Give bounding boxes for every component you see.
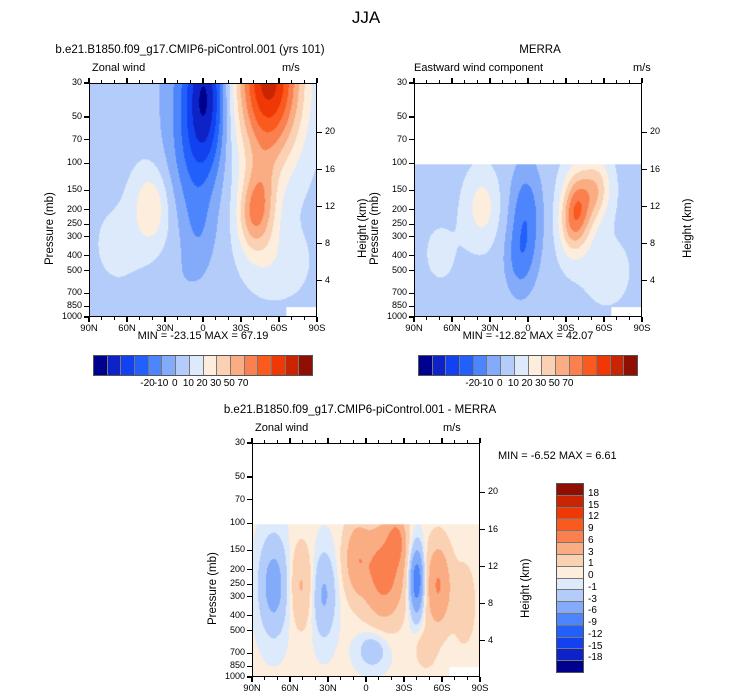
model-lat-tick	[253, 317, 254, 320]
diff-contour-field	[253, 444, 479, 676]
obs-lat-tick	[451, 317, 452, 322]
diff-lat-tick	[251, 677, 252, 682]
diff-lat-tick-top	[340, 440, 341, 443]
colorbar-tick-label: -9	[588, 618, 618, 628]
model-lat-tick	[202, 317, 203, 322]
model-pressure-tick	[84, 255, 89, 256]
colorbar-swatch	[557, 484, 583, 496]
colorbar-swatch	[611, 356, 625, 375]
model-lat-tick	[126, 317, 127, 322]
obs-height-tick-label: 8	[650, 239, 674, 248]
colorbar-swatch	[557, 602, 583, 614]
model-plot-area[interactable]	[89, 83, 317, 317]
colorbar-swatch	[272, 356, 286, 375]
diff-lat-tick-label: 90S	[460, 684, 500, 694]
colorbar-swatch	[245, 356, 259, 375]
obs-lat-tick-top	[591, 80, 592, 83]
model-lat-tick	[88, 317, 89, 322]
model-pressure-tick	[84, 293, 89, 294]
diff-lat-tick-top	[454, 440, 455, 443]
obs-height-tick	[642, 243, 647, 244]
obs-pressure-tick-label: 850	[376, 301, 407, 310]
obs-pressure-tick-label: 1000	[376, 312, 407, 321]
obs-lat-tick-top	[629, 80, 630, 83]
obs-pressure-tick	[409, 209, 414, 210]
model-pressure-tick-label: 850	[51, 301, 82, 310]
model-pressure-tick-label: 50	[51, 112, 82, 121]
diff-height-tick	[480, 566, 485, 567]
diff-pressure-tick	[247, 523, 252, 524]
colorbar-swatch	[190, 356, 204, 375]
model-lat-tick-top	[240, 78, 241, 83]
model-lat-tick-label: 30N	[145, 324, 185, 334]
obs-lat-tick-top	[578, 80, 579, 83]
colorbar-tick-label: -18	[588, 653, 618, 663]
colorbar-swatch	[258, 356, 272, 375]
diff-height-tick	[480, 640, 485, 641]
diff-pressure-tick	[247, 569, 252, 570]
obs-lat-tick-top	[616, 80, 617, 83]
colorbar-tick-label: -1	[588, 583, 618, 593]
model-lat-tick-top	[101, 80, 102, 83]
model-pressure-tick-label: 1000	[51, 312, 82, 321]
diff-height-tick	[480, 492, 485, 493]
obs-pressure-tick	[409, 163, 414, 164]
obs-height-tick-label: 16	[650, 165, 674, 174]
colorbar-swatch	[557, 555, 583, 567]
colorbar-swatch	[286, 356, 300, 375]
colorbar-swatch	[557, 590, 583, 602]
colorbar-swatch	[176, 356, 190, 375]
model-pressure-tick-label: 300	[51, 232, 82, 241]
colorbar-swatch	[108, 356, 122, 375]
model-height-tick-label: 12	[325, 202, 349, 211]
obs-lat-tick	[591, 317, 592, 320]
model-pressure-tick	[84, 116, 89, 117]
colorbar-swatch	[542, 356, 556, 375]
colorbar-swatch	[487, 356, 501, 375]
colorbar-swatch	[162, 356, 176, 375]
obs-lat-tick	[502, 317, 503, 320]
diff-lat-tick	[391, 677, 392, 680]
obs-lat-tick-top	[603, 78, 604, 83]
diff-pressure-tick-label: 300	[214, 592, 245, 601]
diff-units-label: m/s	[443, 422, 461, 434]
obs-lat-tick-top	[413, 78, 414, 83]
obs-lat-tick-top	[477, 80, 478, 83]
obs-lat-tick-label: 60N	[432, 324, 472, 334]
model-height-tick-label: 20	[325, 127, 349, 136]
page-title: JJA	[0, 8, 732, 28]
model-lat-tick-top	[266, 80, 267, 83]
diff-lat-tick	[340, 677, 341, 680]
model-colorbar[interactable]	[93, 355, 313, 376]
obs-pressure-tick-label: 70	[376, 135, 407, 144]
colorbar-tick-label: 15	[588, 501, 618, 511]
diff-pressure-tick-label: 850	[214, 661, 245, 670]
model-lat-tick	[177, 317, 178, 320]
model-height-tick	[317, 243, 322, 244]
diff-colorbar[interactable]	[556, 483, 584, 673]
model-lat-tick-top	[114, 80, 115, 83]
obs-pressure-tick-label: 100	[376, 158, 407, 167]
diff-lat-tick-label: 60S	[422, 684, 462, 694]
model-pressure-tick	[84, 190, 89, 191]
obs-height-tick	[642, 132, 647, 133]
model-panel-title: b.e21.B1850.f09_g17.CMIP6-piControl.001 …	[20, 44, 360, 56]
model-height-tick	[317, 132, 322, 133]
model-lat-tick	[101, 317, 102, 320]
colorbar-swatch	[557, 508, 583, 520]
obs-height-tick	[642, 206, 647, 207]
diff-lat-tick-top	[353, 440, 354, 443]
colorbar-swatch	[556, 356, 570, 375]
diff-pressure-tick	[247, 499, 252, 500]
model-pressure-tick	[84, 224, 89, 225]
obs-lat-tick	[413, 317, 414, 322]
model-pressure-tick-label: 400	[51, 251, 82, 260]
model-lat-tick	[228, 317, 229, 320]
obs-pressure-tick	[409, 236, 414, 237]
obs-pressure-tick	[409, 224, 414, 225]
obs-pressure-tick	[409, 306, 414, 307]
obs-pressure-tick-label: 200	[376, 205, 407, 214]
diff-lat-tick-top	[315, 440, 316, 443]
obs-lat-tick-top	[451, 78, 452, 83]
model-lat-tick	[278, 317, 279, 322]
model-units-label: m/s	[282, 62, 300, 74]
model-lat-tick	[114, 317, 115, 320]
diff-y2-axis-title: Height (km)	[520, 559, 532, 618]
diff-lat-tick-top	[416, 440, 417, 443]
diff-pressure-tick-label: 500	[214, 626, 245, 635]
obs-lat-tick-top	[553, 80, 554, 83]
diff-lat-tick-top	[378, 440, 379, 443]
colorbar-swatch	[501, 356, 515, 375]
colorbar-tick-label: 70	[223, 378, 263, 389]
obs-lat-tick-top	[565, 78, 566, 83]
colorbar-tick-label: -15	[588, 642, 618, 652]
colorbar-tick-label: 18	[588, 489, 618, 499]
diff-pressure-tick-label: 700	[214, 648, 245, 657]
colorbar-swatch	[557, 531, 583, 543]
obs-height-tick	[642, 169, 647, 170]
colorbar-tick-label: -3	[588, 595, 618, 605]
colorbar-swatch	[557, 543, 583, 555]
colorbar-swatch	[121, 356, 135, 375]
obs-lat-tick	[565, 317, 566, 322]
obs-pressure-tick-label: 50	[376, 112, 407, 121]
model-lat-tick-label: 30S	[221, 324, 261, 334]
model-lat-tick-top	[126, 78, 127, 83]
obs-lat-tick-label: 30S	[546, 324, 586, 334]
colorbar-swatch	[557, 649, 583, 661]
model-lat-tick	[316, 317, 317, 322]
obs-plot-area[interactable]	[414, 83, 642, 317]
model-height-tick	[317, 206, 322, 207]
diff-lat-tick	[315, 677, 316, 680]
diff-lat-tick	[264, 677, 265, 680]
colorbar-tick-label: 1	[588, 559, 618, 569]
diff-panel-title: b.e21.B1850.f09_g17.CMIP6-piControl.001 …	[180, 404, 540, 416]
diff-lat-tick-top	[391, 440, 392, 443]
diff-pressure-tick	[247, 550, 252, 551]
obs-height-tick-label: 4	[650, 276, 674, 285]
obs-pressure-tick-label: 500	[376, 266, 407, 275]
obs-lat-tick	[603, 317, 604, 322]
obs-lat-tick	[464, 317, 465, 320]
model-lat-tick-top	[316, 78, 317, 83]
diff-lat-tick-top	[403, 438, 404, 443]
obs-pressure-tick-label: 250	[376, 219, 407, 228]
diff-height-tick	[480, 603, 485, 604]
model-lat-tick	[215, 317, 216, 320]
model-contour-field	[90, 84, 316, 316]
diff-lat-tick	[403, 677, 404, 682]
colorbar-swatch	[557, 496, 583, 508]
diff-pressure-tick	[247, 630, 252, 631]
diff-height-tick-label: 12	[488, 562, 512, 571]
obs-pressure-tick	[409, 116, 414, 117]
model-lat-tick-top	[253, 80, 254, 83]
diff-pressure-tick	[247, 596, 252, 597]
colorbar-swatch	[597, 356, 611, 375]
model-lat-tick-top	[139, 80, 140, 83]
obs-pressure-tick-label: 700	[376, 288, 407, 297]
model-lat-tick-top	[164, 78, 165, 83]
model-lat-tick	[139, 317, 140, 320]
model-pressure-tick	[84, 139, 89, 140]
diff-pressure-tick-label: 400	[214, 611, 245, 620]
model-lat-tick-label: 60N	[107, 324, 147, 334]
diff-lat-tick	[277, 677, 278, 680]
colorbar-tick-label: 9	[588, 524, 618, 534]
model-y2-axis-title: Height (km)	[357, 199, 369, 258]
obs-lat-tick-top	[641, 78, 642, 83]
diff-lat-tick-top	[289, 438, 290, 443]
colorbar-swatch	[570, 356, 584, 375]
model-height-tick-label: 4	[325, 276, 349, 285]
model-lat-tick-top	[291, 80, 292, 83]
obs-lat-tick	[578, 317, 579, 320]
diff-lat-tick-top	[467, 440, 468, 443]
diff-lat-tick	[302, 677, 303, 680]
obs-lat-tick-top	[426, 80, 427, 83]
obs-lat-tick-label: 60S	[584, 324, 624, 334]
colorbar-swatch	[557, 614, 583, 626]
colorbar-swatch	[557, 626, 583, 638]
diff-lat-tick	[378, 677, 379, 680]
obs-lat-tick	[477, 317, 478, 320]
diff-plot-area[interactable]	[252, 443, 480, 677]
model-height-tick	[317, 280, 322, 281]
diff-pressure-tick-label: 30	[214, 438, 245, 447]
diff-lat-tick-top	[441, 438, 442, 443]
colorbar-tick-label: -12	[588, 630, 618, 640]
colorbar-swatch	[149, 356, 163, 375]
model-lat-tick-top	[88, 78, 89, 83]
colorbar-swatch	[135, 356, 149, 375]
model-lat-tick	[240, 317, 241, 322]
colorbar-swatch	[557, 519, 583, 531]
colorbar-swatch	[94, 356, 108, 375]
model-height-tick-label: 16	[325, 165, 349, 174]
colorbar-swatch	[474, 356, 488, 375]
model-pressure-tick	[84, 236, 89, 237]
model-lat-tick	[304, 317, 305, 320]
colorbar-swatch	[231, 356, 245, 375]
obs-panel-title: MERRA	[410, 44, 670, 56]
model-pressure-tick	[84, 209, 89, 210]
colorbar-swatch	[557, 567, 583, 579]
diff-lat-tick-top	[302, 440, 303, 443]
obs-lat-tick	[527, 317, 528, 322]
obs-units-label: m/s	[633, 62, 651, 74]
obs-lat-tick-top	[540, 80, 541, 83]
diff-lat-tick	[429, 677, 430, 680]
obs-lat-tick	[515, 317, 516, 320]
diff-lat-tick-top	[277, 440, 278, 443]
obs-lat-tick	[489, 317, 490, 322]
model-lat-tick-top	[304, 80, 305, 83]
diff-lat-tick-label: 90N	[232, 684, 272, 694]
diff-lat-tick-top	[327, 438, 328, 443]
model-height-tick	[317, 169, 322, 170]
obs-pressure-tick	[409, 139, 414, 140]
colorbar-swatch	[529, 356, 543, 375]
model-lat-tick-top	[177, 80, 178, 83]
diff-lat-tick-label: 0	[346, 684, 386, 694]
obs-lat-tick-top	[464, 80, 465, 83]
obs-contour-field	[415, 84, 641, 316]
colorbar-swatch	[460, 356, 474, 375]
obs-lat-tick	[426, 317, 427, 320]
diff-pressure-tick-label: 200	[214, 565, 245, 574]
diff-height-tick-label: 20	[488, 487, 512, 496]
model-pressure-tick-label: 30	[51, 78, 82, 87]
obs-variable-label: Eastward wind component	[414, 62, 543, 74]
model-lat-tick-label: 90S	[297, 324, 337, 334]
diff-height-tick-label: 16	[488, 525, 512, 534]
model-pressure-tick-label: 100	[51, 158, 82, 167]
model-pressure-tick	[84, 163, 89, 164]
model-lat-tick-top	[202, 78, 203, 83]
obs-lat-tick-top	[489, 78, 490, 83]
diff-lat-tick-label: 60N	[270, 684, 310, 694]
obs-pressure-tick-label: 300	[376, 232, 407, 241]
model-height-tick-label: 8	[325, 239, 349, 248]
diff-pressure-tick	[247, 584, 252, 585]
model-lat-tick-top	[215, 80, 216, 83]
model-lat-tick-top	[228, 80, 229, 83]
colorbar-tick-label: 3	[588, 548, 618, 558]
model-pressure-tick-label: 200	[51, 205, 82, 214]
obs-pressure-tick	[409, 293, 414, 294]
colorbar-swatch	[446, 356, 460, 375]
model-pressure-tick-label: 500	[51, 266, 82, 275]
diff-lat-tick	[327, 677, 328, 682]
obs-lat-tick-top	[439, 80, 440, 83]
obs-lat-tick-label: 90S	[622, 324, 662, 334]
colorbar-swatch	[583, 356, 597, 375]
diff-lat-tick-top	[479, 438, 480, 443]
model-lat-tick	[190, 317, 191, 320]
obs-pressure-tick	[409, 255, 414, 256]
obs-lat-tick-label: 30N	[470, 324, 510, 334]
obs-pressure-tick-label: 30	[376, 78, 407, 87]
obs-lat-tick	[616, 317, 617, 320]
colorbar-swatch	[557, 638, 583, 650]
diff-pressure-tick-label: 50	[214, 472, 245, 481]
diff-lat-tick-label: 30S	[384, 684, 424, 694]
colorbar-swatch	[557, 579, 583, 591]
obs-height-tick-label: 20	[650, 127, 674, 136]
diff-lat-tick	[416, 677, 417, 680]
diff-pressure-tick-label: 100	[214, 518, 245, 527]
diff-lat-tick-top	[429, 440, 430, 443]
obs-y2-axis-title: Height (km)	[682, 199, 694, 258]
model-pressure-tick	[84, 270, 89, 271]
diff-pressure-tick	[247, 666, 252, 667]
colorbar-tick-label: -6	[588, 606, 618, 616]
model-pressure-tick	[84, 306, 89, 307]
diff-height-tick-label: 4	[488, 636, 512, 645]
diff-lat-tick	[353, 677, 354, 680]
diff-variable-label: Zonal wind	[255, 422, 308, 434]
diff-pressure-tick-label: 250	[214, 579, 245, 588]
model-lat-tick-label: 90N	[69, 324, 109, 334]
diff-height-tick	[480, 529, 485, 530]
model-lat-tick	[291, 317, 292, 320]
diff-lat-tick	[467, 677, 468, 680]
diff-height-tick-label: 8	[488, 599, 512, 608]
diff-lat-tick	[479, 677, 480, 682]
diff-lat-tick	[289, 677, 290, 682]
colorbar-swatch	[557, 661, 583, 672]
obs-height-tick-label: 12	[650, 202, 674, 211]
diff-lat-tick-top	[365, 438, 366, 443]
obs-lat-tick	[629, 317, 630, 320]
diff-pressure-tick	[247, 476, 252, 477]
diff-pressure-tick-label: 150	[214, 545, 245, 554]
model-pressure-tick-label: 70	[51, 135, 82, 144]
obs-lat-tick-top	[502, 80, 503, 83]
obs-height-tick	[642, 280, 647, 281]
obs-lat-tick-label: 90N	[394, 324, 434, 334]
model-variable-label: Zonal wind	[92, 62, 145, 74]
obs-lat-tick	[641, 317, 642, 322]
model-lat-tick-top	[152, 80, 153, 83]
obs-colorbar[interactable]	[418, 355, 638, 376]
obs-lat-tick-top	[515, 80, 516, 83]
diff-pressure-tick-label: 1000	[214, 672, 245, 681]
diff-lat-tick-top	[264, 440, 265, 443]
model-pressure-tick-label: 150	[51, 185, 82, 194]
colorbar-swatch	[433, 356, 447, 375]
obs-lat-tick	[540, 317, 541, 320]
colorbar-swatch	[204, 356, 218, 375]
colorbar-tick-label: 0	[588, 571, 618, 581]
colorbar-swatch	[624, 356, 637, 375]
diff-minmax-text: MIN = -6.52 MAX = 6.61	[498, 450, 688, 462]
diff-lat-tick-top	[251, 438, 252, 443]
obs-lat-tick-top	[527, 78, 528, 83]
diff-lat-tick	[454, 677, 455, 680]
colorbar-swatch	[217, 356, 231, 375]
model-lat-tick	[164, 317, 165, 322]
diff-pressure-tick	[247, 615, 252, 616]
obs-lat-tick	[439, 317, 440, 320]
